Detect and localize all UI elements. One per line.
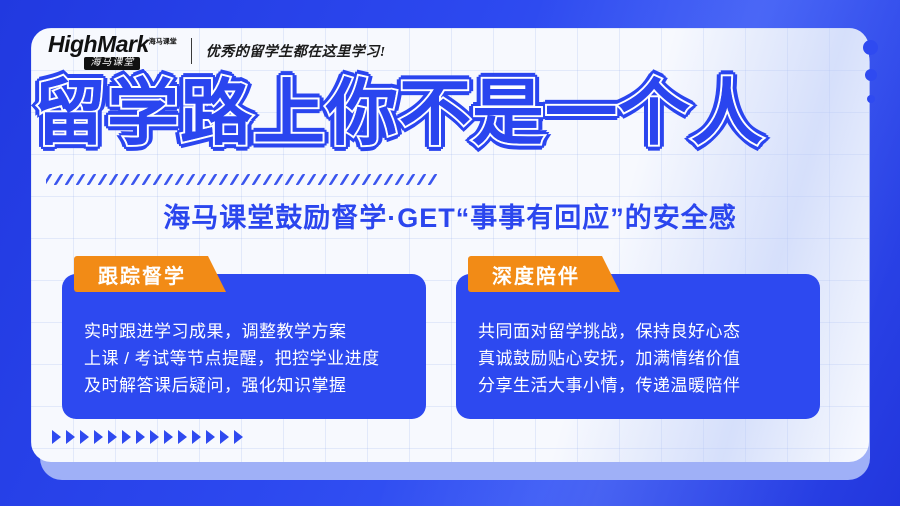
chevron-right-icon bbox=[108, 430, 117, 444]
dot-medium bbox=[865, 69, 877, 81]
chevron-right-icon bbox=[66, 430, 75, 444]
logo-subtext: 海马课堂 bbox=[84, 57, 140, 70]
card-body: 共同面对留学挑战，保持良好心态 真诚鼓励贴心安抚，加满情绪价值 分享生活大事小情… bbox=[456, 318, 820, 399]
card-body: 实时跟进学习成果，调整教学方案 上课 / 考试等节点提醒，把控学业进度 及时解答… bbox=[62, 318, 426, 399]
chevron-right-icon bbox=[164, 430, 173, 444]
brand-tagline: 优秀的留学生都在这里学习! bbox=[206, 41, 386, 61]
slash-mark bbox=[164, 174, 174, 185]
card-line: 及时解答课后疑问，强化知识掌握 bbox=[84, 372, 404, 399]
card-tag-label: 跟踪督学 bbox=[74, 256, 226, 292]
slash-mark bbox=[252, 174, 262, 185]
slash-mark bbox=[241, 174, 251, 185]
chevron-right-icon bbox=[220, 430, 229, 444]
slash-mark bbox=[417, 174, 427, 185]
dot-large bbox=[863, 40, 878, 55]
slash-mark bbox=[120, 174, 130, 185]
slash-mark bbox=[351, 174, 361, 185]
page-title: 留学路上你不是一个人 bbox=[34, 78, 844, 150]
header-divider bbox=[191, 38, 192, 64]
dot-column bbox=[863, 40, 878, 103]
slash-mark bbox=[373, 174, 383, 185]
chevron-row bbox=[52, 430, 243, 444]
chevron-right-icon bbox=[136, 430, 145, 444]
slash-divider bbox=[46, 172, 836, 186]
logo-wordmark: HighMark海马课堂 bbox=[48, 33, 177, 56]
slash-mark bbox=[296, 174, 306, 185]
slash-mark bbox=[406, 174, 416, 185]
chevron-right-icon bbox=[150, 430, 159, 444]
chevron-right-icon bbox=[206, 430, 215, 444]
slash-mark bbox=[98, 174, 108, 185]
chevron-right-icon bbox=[192, 430, 201, 444]
slash-mark bbox=[384, 174, 394, 185]
logo: HighMark海马课堂 海马课堂 bbox=[48, 33, 177, 70]
slash-mark bbox=[285, 174, 295, 185]
slash-mark bbox=[329, 174, 339, 185]
slash-mark bbox=[395, 174, 405, 185]
slash-mark bbox=[197, 174, 207, 185]
slash-mark bbox=[65, 174, 75, 185]
slash-mark bbox=[230, 174, 240, 185]
card-line: 实时跟进学习成果，调整教学方案 bbox=[84, 318, 404, 345]
logo-trademark: 海马课堂 bbox=[149, 38, 177, 45]
chevron-right-icon bbox=[52, 430, 61, 444]
chevron-right-icon bbox=[94, 430, 103, 444]
logo-wordmark-text: HighMark bbox=[48, 31, 149, 57]
card-line: 分享生活大事小情，传递温暖陪伴 bbox=[478, 372, 798, 399]
slash-mark bbox=[54, 174, 64, 185]
card-line: 上课 / 考试等节点提醒，把控学业进度 bbox=[84, 345, 404, 372]
slash-mark bbox=[175, 174, 185, 185]
card-tag-label: 深度陪伴 bbox=[468, 256, 620, 292]
slash-mark bbox=[307, 174, 317, 185]
slash-mark bbox=[263, 174, 273, 185]
slash-mark bbox=[362, 174, 372, 185]
slash-mark bbox=[131, 174, 141, 185]
slash-mark bbox=[87, 174, 97, 185]
slash-mark bbox=[428, 174, 438, 185]
card-line: 真诚鼓励贴心安抚，加满情绪价值 bbox=[478, 345, 798, 372]
slash-mark bbox=[186, 174, 196, 185]
chevron-right-icon bbox=[178, 430, 187, 444]
chevron-right-icon bbox=[234, 430, 243, 444]
slash-mark bbox=[153, 174, 163, 185]
chevron-right-icon bbox=[122, 430, 131, 444]
slash-mark bbox=[76, 174, 86, 185]
slash-mark bbox=[318, 174, 328, 185]
brand-header: HighMark海马课堂 海马课堂 优秀的留学生都在这里学习! bbox=[48, 30, 386, 72]
slash-mark bbox=[142, 174, 152, 185]
slash-mark bbox=[340, 174, 350, 185]
dot-small bbox=[867, 95, 875, 103]
slash-mark bbox=[274, 174, 284, 185]
slash-mark bbox=[208, 174, 218, 185]
slash-mark bbox=[219, 174, 229, 185]
promo-poster: HighMark海马课堂 海马课堂 优秀的留学生都在这里学习! 留学路上你不是一… bbox=[0, 0, 900, 506]
chevron-right-icon bbox=[80, 430, 89, 444]
feature-card: 深度陪伴 共同面对留学挑战，保持良好心态 真诚鼓励贴心安抚，加满情绪价值 分享生… bbox=[456, 274, 820, 419]
card-line: 共同面对留学挑战，保持良好心态 bbox=[478, 318, 798, 345]
slash-mark bbox=[109, 174, 119, 185]
page-subtitle: 海马课堂鼓励督学·GET“事事有回应”的安全感 bbox=[0, 196, 900, 235]
feature-cards: 跟踪督学 实时跟进学习成果，调整教学方案 上课 / 考试等节点提醒，把控学业进度… bbox=[62, 274, 838, 419]
slash-mark bbox=[46, 174, 52, 185]
feature-card: 跟踪督学 实时跟进学习成果，调整教学方案 上课 / 考试等节点提醒，把控学业进度… bbox=[62, 274, 426, 419]
